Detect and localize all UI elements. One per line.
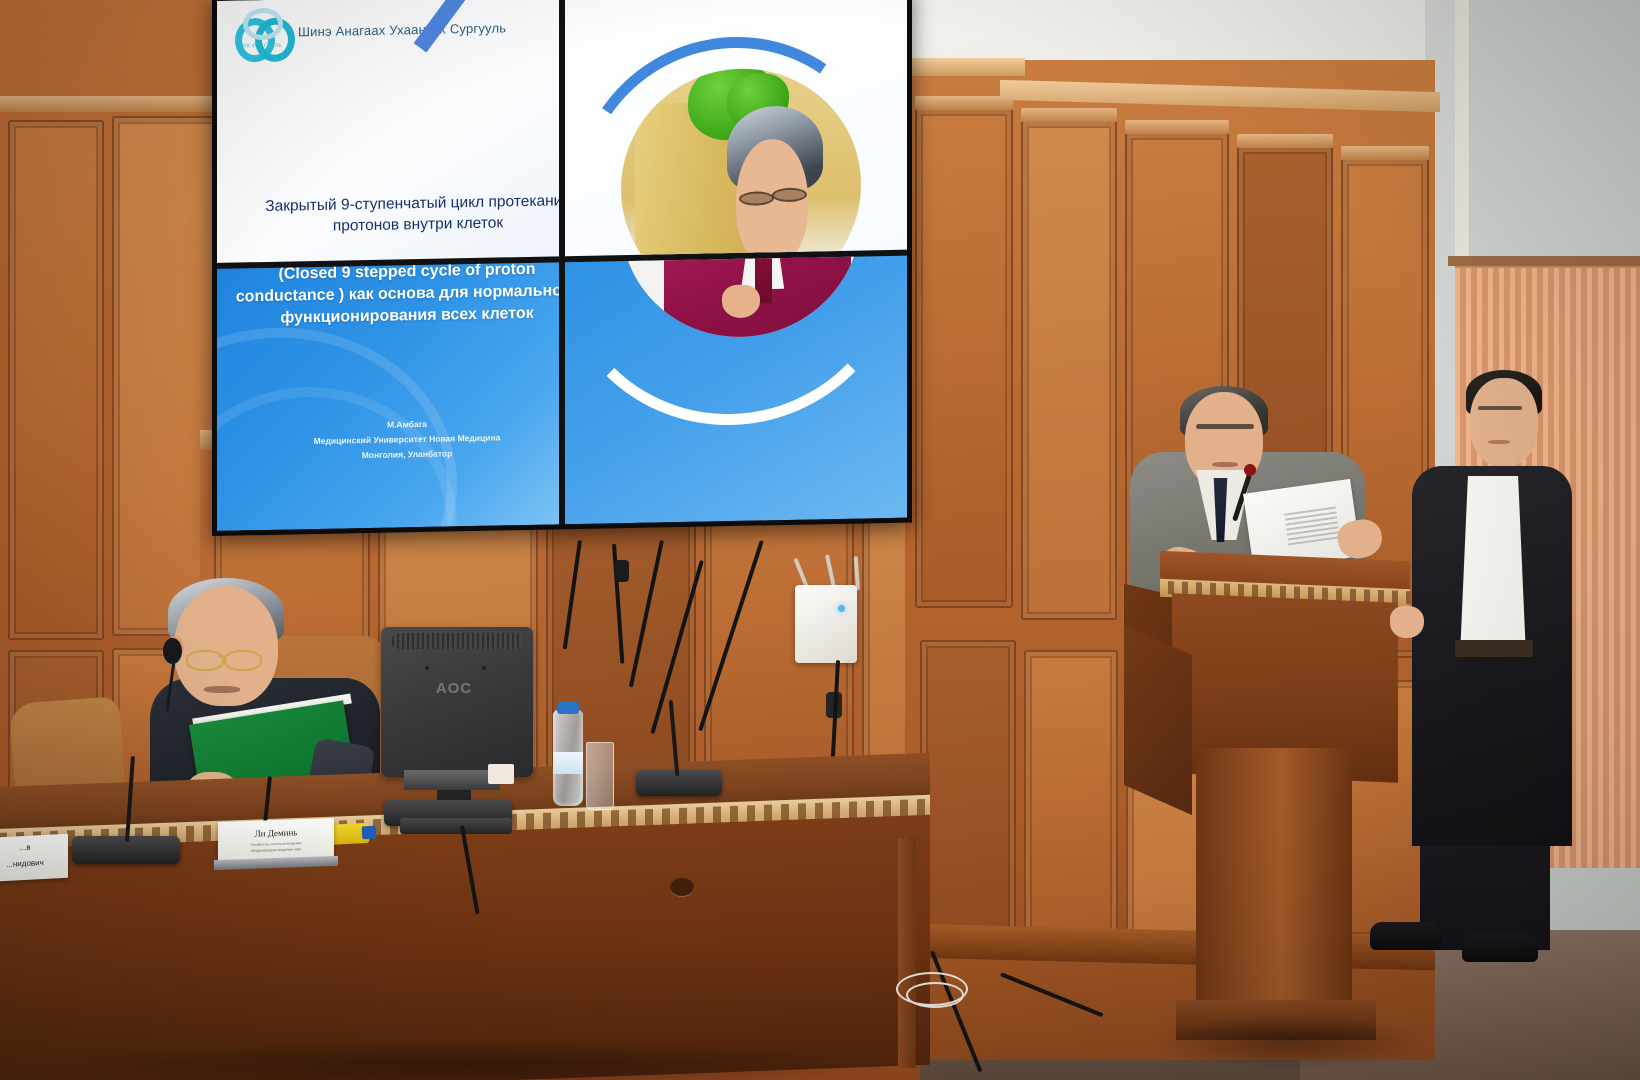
name-placard-left: ...в ...нидович — [0, 834, 68, 883]
wall-panel — [1024, 650, 1118, 950]
logo-mark-text: ИХ СУРГУУЛЬ — [242, 43, 282, 50]
radiator-top-rail — [1448, 256, 1640, 266]
power-connector — [488, 764, 514, 784]
wall-panel — [1021, 120, 1117, 620]
left-cornice — [0, 96, 236, 112]
monitor-screw — [425, 666, 429, 670]
standing-assistant-brow — [1478, 406, 1522, 410]
drinking-glass — [586, 742, 614, 810]
placard-left-name: ...в — [0, 841, 68, 855]
bottle-cap — [557, 702, 579, 714]
wifi-router — [795, 585, 857, 663]
bottle-label — [553, 752, 583, 774]
white-cable-coil — [906, 982, 964, 1008]
papers-text — [1284, 505, 1340, 546]
standing-assistant-hand — [1390, 606, 1424, 638]
desk-right-edge — [898, 838, 916, 1069]
standing-assistant-mouth — [1488, 440, 1510, 444]
panel-cap — [1237, 134, 1333, 148]
marker-cap — [362, 826, 377, 840]
name-placard-center: Ли Деминь Профессор, почётный академик М… — [218, 818, 334, 862]
photo-scene: ИХ СУРГУУЛЬ Шинэ Анагаах Ухаан Их Сургуу… — [0, 0, 1640, 1080]
glasses-icon — [739, 191, 774, 206]
monitor-vent — [392, 633, 522, 649]
right-cornice-upper — [905, 58, 1025, 76]
slide-title-ru: Закрытый 9-ступенчатый цикл протекания п… — [253, 190, 559, 239]
aoc-monitor — [381, 627, 533, 777]
videowall-tile-top-left: ИХ СУРГУУЛЬ Шинэ Анагаах Ухаан Их Сургуу… — [217, 0, 559, 263]
panel-cap — [915, 96, 1013, 110]
standing-assistant-shirt — [1460, 476, 1526, 656]
videowall-tile-bottom-right — [565, 256, 907, 525]
standing-assistant-head — [1470, 378, 1538, 466]
desk-shadow — [40, 1040, 900, 1080]
wall-panel — [8, 120, 104, 640]
monitor-screw — [482, 666, 486, 670]
monitor-brand-label: AOC — [424, 680, 484, 697]
panel-cap — [1021, 108, 1117, 122]
router-led-icon — [838, 605, 845, 612]
wall-panel — [920, 640, 1016, 940]
panel-cap — [1125, 120, 1229, 134]
slide-title-en: (Closed 9 stepped cycle of proton conduc… — [231, 262, 559, 330]
monitor-ports — [404, 770, 500, 790]
cable-clip — [615, 560, 629, 582]
glasses-icon — [224, 650, 262, 671]
interlocking-rings-logo-icon: ИХ СУРГУУЛЬ — [235, 10, 289, 55]
placard-center-name: Ли Деминь — [218, 826, 334, 840]
standing-assistant-shoe — [1462, 934, 1538, 962]
blue-chevron-graphic — [414, 0, 559, 140]
videowall-tile-bottom-left: (Closed 9 stepped cycle of proton conduc… — [217, 262, 559, 531]
podium-shadow — [1150, 1014, 1430, 1070]
podium-column — [1196, 748, 1352, 1018]
desk-cable-grommet — [670, 878, 694, 896]
glasses-bridge — [219, 655, 227, 657]
podium-speaker-brow — [1196, 424, 1254, 429]
podium-speaker-mouth — [1212, 462, 1238, 467]
seated-panelist-mouth — [204, 686, 240, 693]
panel-cap — [1341, 146, 1429, 160]
wall-panel — [915, 108, 1013, 608]
podium-front-bevel — [1124, 625, 1192, 815]
podium-microphone-head — [1244, 464, 1256, 476]
video-wall: ИХ СУРГУУЛЬ Шинэ Анагаах Ухаан Их Сургуу… — [212, 0, 912, 536]
placard-left-patronymic: ...нидович — [0, 857, 68, 871]
standing-assistant-belt — [1455, 640, 1533, 657]
desk-control-panel — [400, 818, 512, 834]
videowall-tile-top-right — [565, 0, 907, 256]
slide-author-block: М.Амбага Медицинский Университет Новая М… — [237, 414, 559, 465]
glasses-icon — [186, 650, 224, 671]
standing-assistant-shoe — [1370, 922, 1442, 950]
